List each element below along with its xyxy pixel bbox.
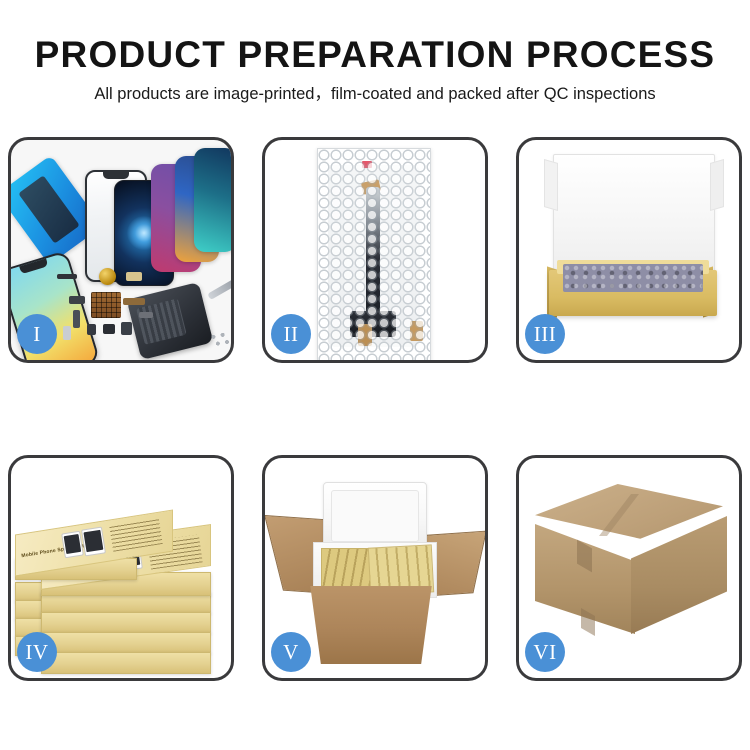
spare-part-icon xyxy=(63,326,71,340)
process-step-panel-6[interactable]: VI xyxy=(516,455,742,681)
screws-icon xyxy=(209,332,231,348)
box-artwork-screen xyxy=(61,531,84,559)
flex-connector-icon xyxy=(410,321,423,341)
spare-part-icon xyxy=(87,324,96,335)
step-badge-2: II xyxy=(271,314,311,354)
red-sticker-icon xyxy=(362,161,372,168)
speaker-module-icon xyxy=(99,268,116,285)
stacked-box xyxy=(41,652,211,674)
step-badge-5: V xyxy=(271,632,311,672)
spare-part-icon xyxy=(123,298,145,305)
spare-part-icon xyxy=(139,312,153,318)
spare-part-icon xyxy=(121,322,132,335)
process-step-panel-5[interactable]: V xyxy=(262,455,488,681)
step-badge-1: I xyxy=(17,314,57,354)
process-step-panel-2[interactable]: II xyxy=(262,137,488,363)
phone-back-housing xyxy=(127,282,214,360)
bubble-wrap-bag xyxy=(317,148,431,360)
box-artwork-screen xyxy=(81,527,106,557)
product-preparation-page: PRODUCT PREPARATION PROCESS All products… xyxy=(0,0,750,750)
tweezers-icon xyxy=(207,279,231,300)
process-step-panel-3[interactable]: III xyxy=(516,137,742,363)
page-subtitle: All products are image-printed，film-coat… xyxy=(0,86,750,103)
process-step-grid: I II xyxy=(8,137,742,685)
step-badge-4: IV xyxy=(17,632,57,672)
logic-board-chip xyxy=(91,292,121,318)
stacked-box xyxy=(41,612,211,634)
process-step-panel-1[interactable]: I xyxy=(8,137,234,363)
lcd-flex-cable xyxy=(366,187,380,337)
spare-part-icon xyxy=(126,272,142,281)
page-header: PRODUCT PREPARATION PROCESS All products… xyxy=(0,0,750,103)
stacked-box xyxy=(41,632,211,654)
process-step-panel-4[interactable]: Mobile Phone Spare Parts Mobile Phone Sp… xyxy=(8,455,234,681)
step-badge-3: III xyxy=(525,314,565,354)
page-title: PRODUCT PREPARATION PROCESS xyxy=(0,36,750,73)
step-badge-6: VI xyxy=(525,632,565,672)
spare-part-icon xyxy=(69,296,85,304)
teal-gradient-phone xyxy=(194,148,231,252)
carton-body xyxy=(305,586,437,664)
spare-part-icon xyxy=(73,310,80,328)
spare-part-icon xyxy=(57,274,77,279)
spare-part-icon xyxy=(103,324,115,334)
grey-foam-padding xyxy=(563,264,703,292)
flex-connector-icon xyxy=(358,324,372,346)
